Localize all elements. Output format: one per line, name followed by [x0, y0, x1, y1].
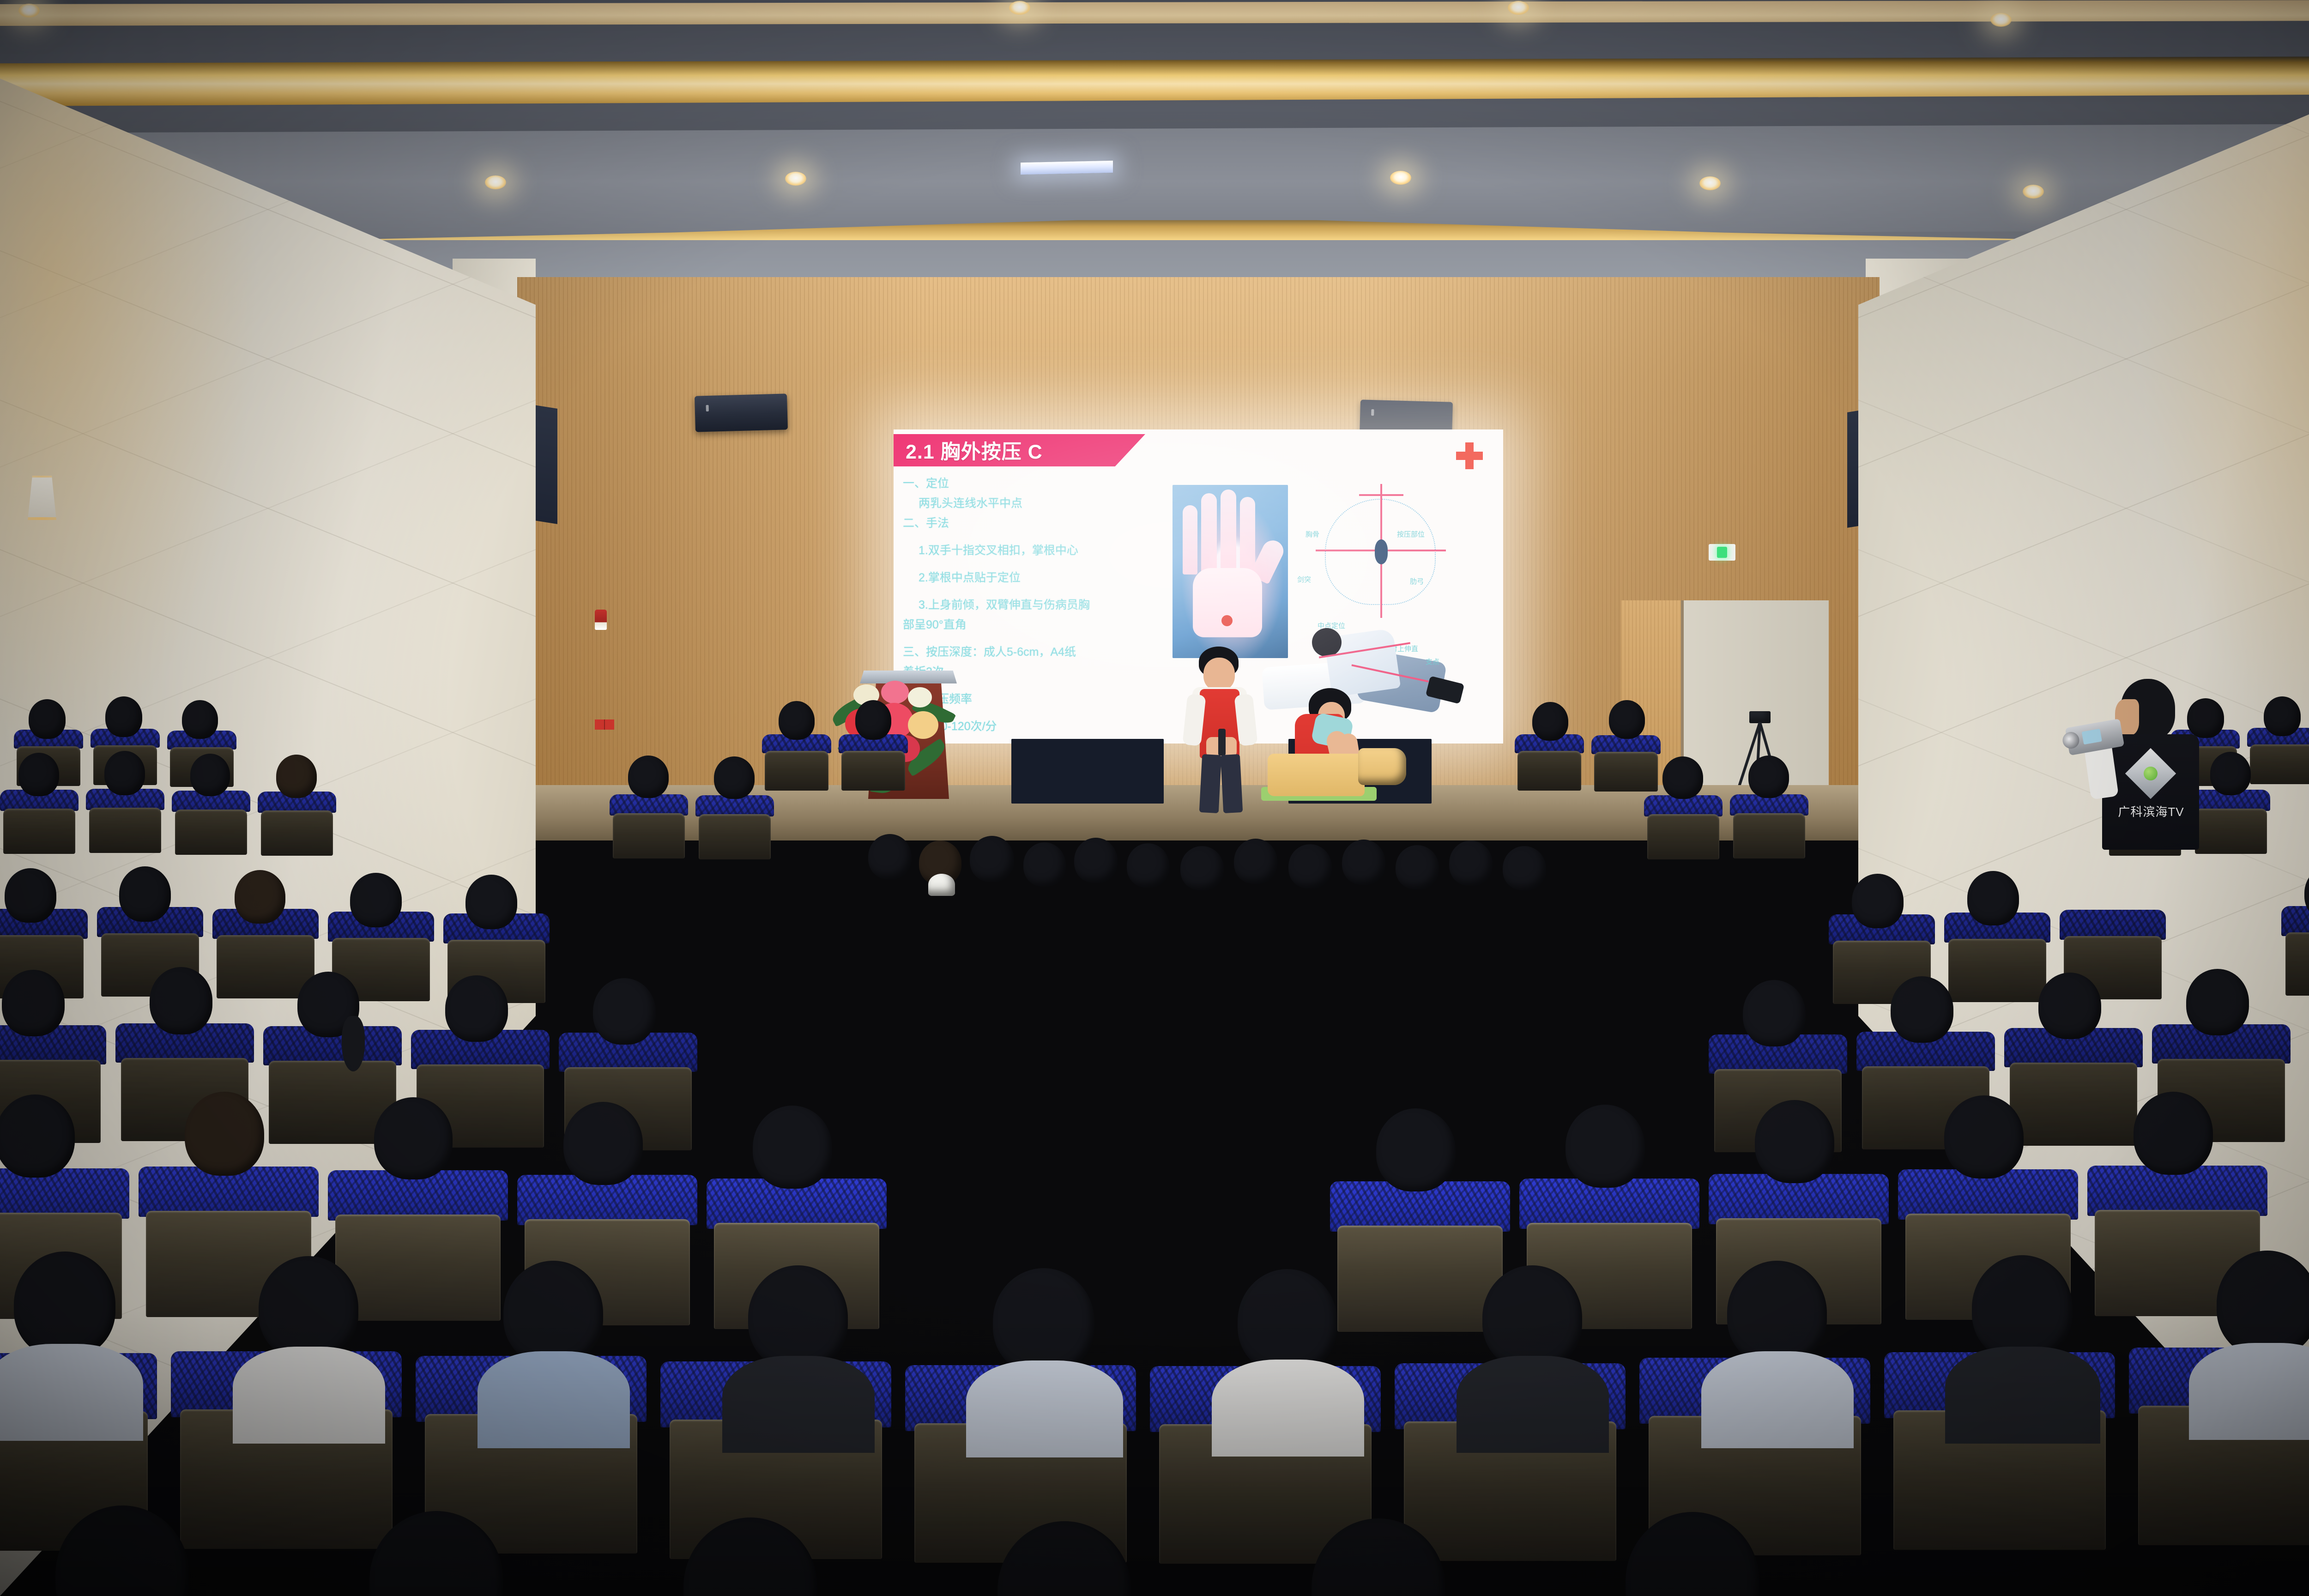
finger: [1221, 490, 1236, 577]
audience-member: [1748, 756, 1789, 798]
diagram-label: 剑突: [1297, 574, 1311, 584]
audience-member: [855, 700, 891, 740]
seat[interactable]: [1944, 913, 2050, 1000]
seat[interactable]: [695, 795, 774, 858]
audience-member: [1449, 840, 1493, 886]
compression-site-marker: [1375, 539, 1388, 564]
audience-member: [1234, 839, 1277, 884]
slide-title-text: 2.1 胸外按压 C: [906, 436, 1043, 465]
seat[interactable]: [762, 734, 831, 790]
stage-speaker-left: [695, 393, 788, 432]
audience-member: [753, 1106, 832, 1189]
audience-member: [18, 753, 59, 796]
audience-member: [628, 756, 669, 798]
ponytail: [342, 1016, 365, 1071]
audience-member: [1727, 1261, 1827, 1365]
audience-member: [1342, 840, 1385, 885]
downlight-icon: [18, 4, 40, 18]
audience-member: [1312, 1518, 1445, 1596]
audience-member: [369, 1511, 503, 1596]
audience-member: [1482, 1265, 1582, 1370]
diagram-label: 按压部位: [1397, 529, 1425, 539]
seat[interactable]: [1591, 735, 1661, 791]
audience-member: [714, 756, 755, 799]
audience-member: [259, 1256, 358, 1360]
diagram-label: 胸骨: [1306, 529, 1319, 539]
audience-member: [297, 972, 359, 1037]
audience-member: [104, 751, 145, 795]
audience-member: [1238, 1269, 1337, 1373]
audience-member: [593, 978, 656, 1045]
audience-member: [1074, 838, 1118, 883]
wall-cove-glow: [0, 69, 259, 762]
audience-member: [14, 1251, 115, 1358]
audience-member: [1376, 1108, 1456, 1191]
audience-member: [150, 967, 212, 1034]
audience-member: [993, 1268, 1094, 1374]
audience-member: [1967, 871, 2019, 925]
audience-member: [119, 866, 171, 922]
linear-ceiling-light: [1021, 161, 1113, 175]
audience-member: [1127, 843, 1169, 888]
audience-member: [779, 701, 815, 740]
downlight-icon: [1990, 13, 2012, 27]
downlight-icon: [1009, 1, 1030, 15]
audience-member: [1503, 846, 1546, 890]
audience-member: [29, 699, 66, 739]
audience-member: [2186, 969, 2249, 1035]
slide-line: 三、按压深度：成人5-6cm，A4纸: [903, 642, 1180, 662]
seat[interactable]: [2247, 728, 2309, 783]
audience-member: [2264, 696, 2301, 736]
audience-member: [683, 1517, 817, 1596]
audience-member: [374, 1097, 453, 1179]
audience-member: [2304, 865, 2309, 921]
red-cross-icon: [1456, 442, 1483, 469]
audience-member: [748, 1265, 848, 1370]
audience-member: [1180, 846, 1224, 890]
audience-member: [970, 836, 1014, 882]
audience-member: [276, 755, 317, 798]
audience-member: [190, 754, 230, 796]
fire-strobe-icon: [595, 610, 607, 630]
audience-member: [1609, 700, 1645, 739]
downlight-icon: [2023, 185, 2044, 199]
audience-member: [445, 975, 508, 1042]
auditorium-scene: 2.1 胸外按压 C 一、定位 两乳头连线水平中点 二、手法 1.双手十指交叉相…: [0, 0, 2309, 1596]
seat[interactable]: [1515, 734, 1584, 790]
audience-member: [1662, 756, 1703, 799]
diagram-label: 肋弓: [1410, 576, 1424, 586]
audience-member: [2038, 973, 2101, 1039]
audience-member: [1755, 1100, 1834, 1183]
audience-member: [0, 1094, 75, 1178]
audience-member: [1743, 980, 1806, 1046]
audience-member: [5, 868, 56, 923]
audience-member: [1288, 844, 1332, 889]
audience-seating: [0, 720, 2309, 1596]
audience-member: [503, 1261, 603, 1365]
audience-member: [55, 1505, 189, 1596]
presenter-head: [1203, 658, 1235, 691]
audience-member: [868, 834, 912, 879]
audience-member: [997, 1521, 1131, 1596]
seat[interactable]: [86, 789, 164, 852]
rescuer-head: [1312, 628, 1342, 657]
exit-sign-icon: [1709, 544, 1735, 561]
finger: [1201, 493, 1217, 575]
slide-line: 1.双手十指交叉相扣，掌根中心: [903, 541, 1180, 561]
seat[interactable]: [2004, 1028, 2143, 1143]
cameraman: 广科滨海TV: [2078, 679, 2230, 873]
audience-member: [1396, 845, 1439, 889]
palm: [1193, 568, 1262, 637]
audience-member: [235, 870, 285, 924]
audience-member: [1532, 702, 1568, 741]
slide-title-banner: 2.1 胸外按压 C: [894, 434, 1145, 466]
audience-member: [105, 696, 142, 737]
audience-member: [563, 1102, 643, 1185]
vest-text: 广科滨海TV: [2105, 803, 2197, 820]
downlight-icon: [1699, 176, 1721, 190]
audience-member: [1972, 1255, 2073, 1360]
compression-point-marker: [1221, 615, 1233, 626]
audience-member: [2217, 1251, 2309, 1357]
slide-line: 2.掌根中点贴于定位: [903, 568, 1180, 588]
downlight-icon: [485, 175, 506, 189]
slide-line: 一、定位: [903, 474, 1180, 494]
finger: [1240, 497, 1255, 578]
slide-line: 两乳头连线水平中点: [903, 494, 1180, 514]
downlight-icon: [1508, 1, 1529, 15]
downlight-icon: [785, 172, 806, 186]
audience-member: [2, 970, 65, 1036]
chest-anatomy-diagram: 胸骨 按压部位 剑突 肋弓 中点定位 肘上伸直: [1305, 484, 1457, 618]
seat[interactable]: [610, 794, 688, 857]
camera-screen: [2082, 729, 2102, 745]
finger: [1183, 505, 1197, 574]
slide-line: 部呈90°直角: [903, 615, 1180, 635]
audience-member: [1023, 842, 1066, 887]
audience-member: [1891, 976, 1953, 1043]
seat[interactable]: [1644, 795, 1723, 858]
seat[interactable]: [172, 791, 250, 853]
wall-sconce-icon: [28, 476, 56, 520]
seat[interactable]: [258, 792, 336, 854]
audience-white-cap: [928, 874, 955, 896]
clavicle-line: [1359, 494, 1403, 496]
audience-member: [182, 700, 218, 739]
audience-member: [1626, 1512, 1759, 1596]
seat[interactable]: [1730, 794, 1808, 857]
audience-member: [350, 873, 402, 927]
audience-member: [2134, 1092, 2213, 1175]
audience-member: [1566, 1105, 1645, 1188]
audience-member: [1852, 874, 1904, 928]
slide-line: 3.上身前倾，双臂伸直与伤病员胸: [903, 595, 1180, 615]
audience-member: [1944, 1095, 2024, 1179]
audience-member: [465, 875, 517, 929]
diagram-label: 支点: [1426, 657, 1439, 666]
seat[interactable]: [839, 734, 908, 790]
slide-line: 二、手法: [903, 514, 1180, 533]
audience-member: [185, 1092, 264, 1176]
downlight-icon: [1390, 171, 1411, 185]
seat[interactable]: [0, 790, 79, 852]
